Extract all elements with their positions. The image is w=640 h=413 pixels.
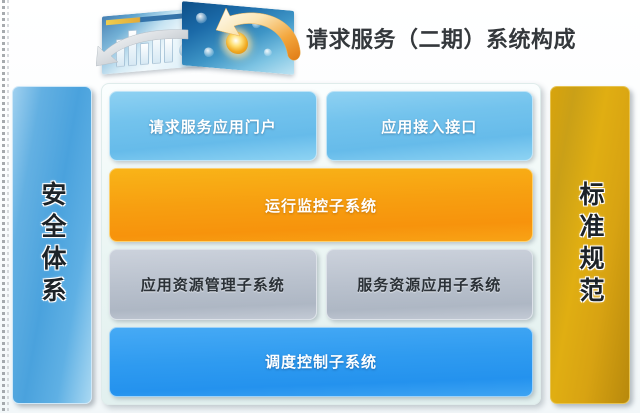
row-monitoring-layer: 运行监控子系统 bbox=[109, 168, 533, 242]
row-resource-layer: 应用资源管理子系统 服务资源应用子系统 bbox=[109, 249, 533, 319]
header: 请求服务（二期）系统构成 bbox=[0, 0, 640, 80]
box-application-access-interface[interactable]: 应用接入接口 bbox=[326, 91, 534, 161]
curved-arrow-gold-icon bbox=[214, 6, 306, 66]
row-application-layer: 请求服务应用门户 应用接入接口 bbox=[109, 91, 533, 161]
pillar-standards-specifications[interactable]: 标准规范 bbox=[550, 86, 630, 404]
page-title: 请求服务（二期）系统构成 bbox=[306, 22, 606, 58]
pillar-right-label: 标准规范 bbox=[572, 181, 608, 309]
row-scheduling-layer: 调度控制子系统 bbox=[109, 327, 533, 397]
system-architecture-stack: 请求服务应用门户 应用接入接口 运行监控子系统 应用资源管理子系统 服务资源应用… bbox=[101, 83, 541, 405]
pillar-left-label: 安全体系 bbox=[34, 181, 70, 309]
bubble-icon-3 bbox=[204, 47, 214, 58]
curved-arrow-gray-icon bbox=[96, 26, 192, 68]
box-runtime-monitoring-subsystem[interactable]: 运行监控子系统 bbox=[109, 168, 533, 242]
pillar-security-system[interactable]: 安全体系 bbox=[12, 86, 92, 404]
bubble-icon-1 bbox=[196, 12, 207, 24]
diagram-canvas: 请求服务（二期）系统构成 安全体系 请求服务应用门户 应用接入接口 运行监控子系… bbox=[0, 0, 640, 413]
box-scheduling-control-subsystem[interactable]: 调度控制子系统 bbox=[109, 327, 533, 397]
box-service-resource-application-subsystem[interactable]: 服务资源应用子系统 bbox=[326, 249, 534, 319]
box-service-portal[interactable]: 请求服务应用门户 bbox=[109, 91, 317, 161]
box-application-resource-management-subsystem[interactable]: 应用资源管理子系统 bbox=[109, 249, 317, 319]
header-artwork bbox=[96, 2, 308, 76]
